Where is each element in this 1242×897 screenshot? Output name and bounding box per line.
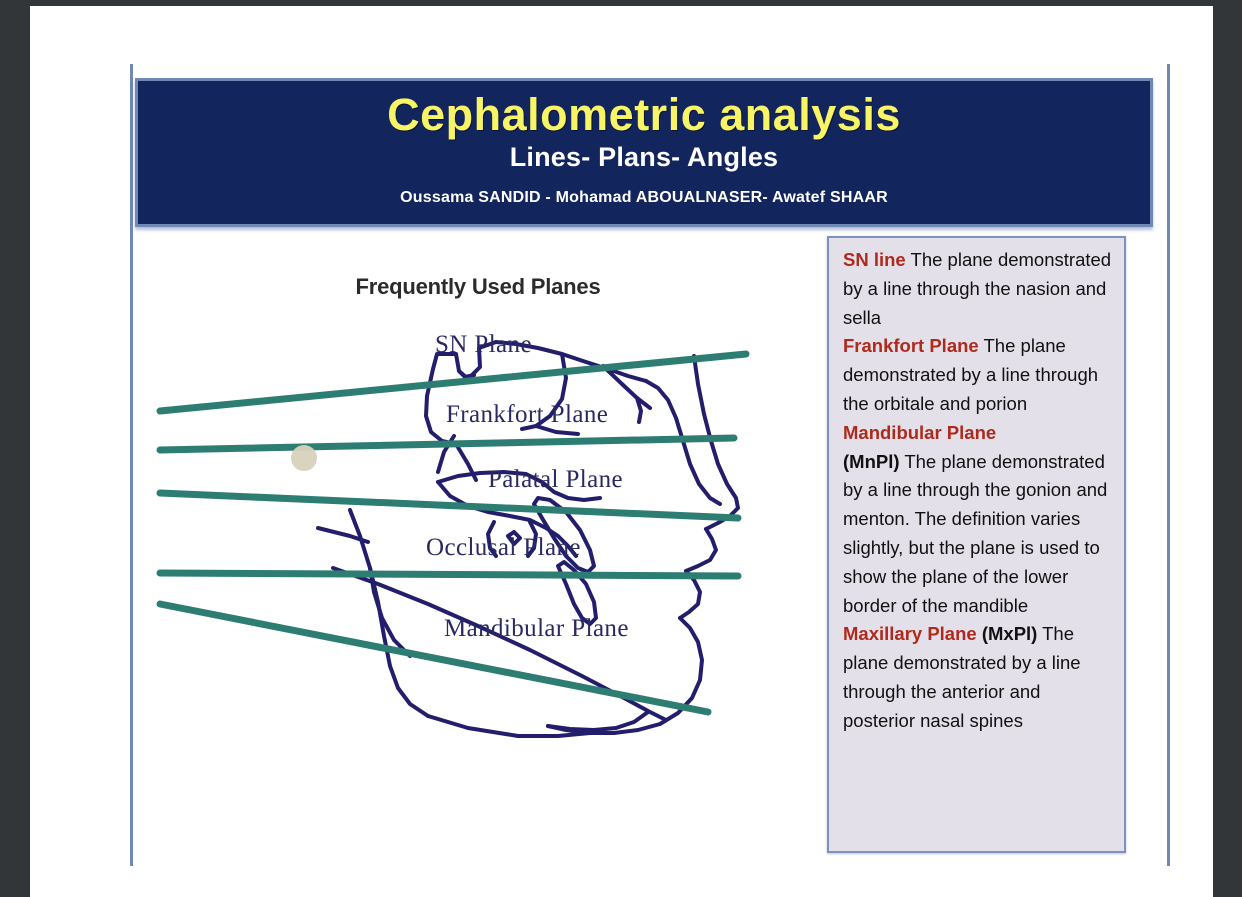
slide-header-band: Cephalometric analysis Lines- Plans- Ang… xyxy=(135,78,1153,227)
page-title: Cephalometric analysis xyxy=(138,81,1150,138)
abbr-mandibular-plane: (MnPl) xyxy=(843,451,900,472)
plane-label-palatal-plane: Palatal Plane xyxy=(488,466,623,494)
sella-point-marker xyxy=(291,445,317,471)
left-vertical-rule xyxy=(130,64,133,866)
plane-label-sn-plane: SN Plane xyxy=(435,331,532,359)
term-mandibular-plane: Mandibular Plane xyxy=(843,422,996,443)
plane-label-frankfort-plane: Frankfort Plane xyxy=(446,401,608,429)
author-line: Oussama SANDID - Mohamad ABOUALNASER- Aw… xyxy=(138,173,1150,207)
abbr-maxillary-plane: (MxPl) xyxy=(982,623,1038,644)
term-sn-line: SN line xyxy=(843,249,906,270)
plane-label-occlusal-plane: Occlusal Plane xyxy=(426,534,581,562)
screenshot-root: Cephalometric analysis Lines- Plans- Ang… xyxy=(0,0,1242,897)
definition-mandibular-plane: The plane demonstrated by a line through… xyxy=(843,451,1107,616)
occlusal-plane-line xyxy=(160,573,738,576)
term-frankfort-plane: Frankfort Plane xyxy=(843,335,979,356)
term-maxillary-plane: Maxillary Plane xyxy=(843,623,977,644)
definitions-panel: SN line The plane demonstrated by a line… xyxy=(827,236,1126,853)
plane-label-mandibular-plane: Mandibular Plane xyxy=(444,615,629,643)
cephalometric-diagram: Frequently Used Planes xyxy=(138,236,818,856)
right-vertical-rule xyxy=(1167,64,1170,866)
definitions-text: SN line The plane demonstrated by a line… xyxy=(843,246,1114,736)
page-subtitle: Lines- Plans- Angles xyxy=(138,138,1150,173)
slide-canvas: Cephalometric analysis Lines- Plans- Ang… xyxy=(30,6,1213,897)
